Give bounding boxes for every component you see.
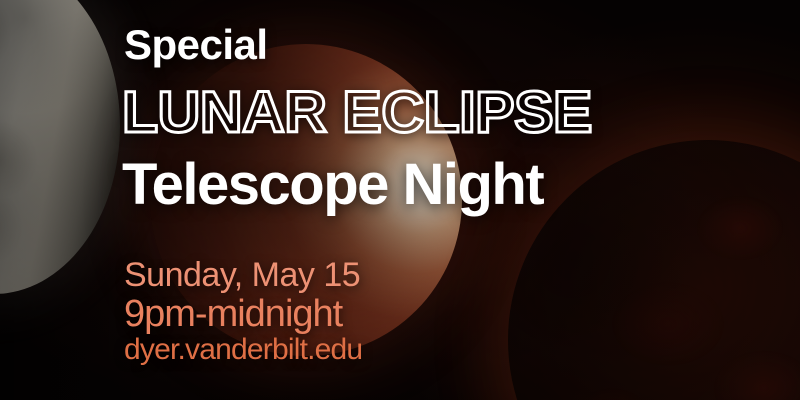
event-date: Sunday, May 15 <box>124 256 362 294</box>
poster-kicker: Special <box>124 24 268 66</box>
poster-copy-block: Special LUNAR ECLIPSE Telescope Night Su… <box>122 0 722 400</box>
event-url[interactable]: dyer.vanderbilt.edu <box>124 334 362 366</box>
lunar-eclipse-event-poster: Special LUNAR ECLIPSE Telescope Night Su… <box>0 0 800 400</box>
poster-title-outline: LUNAR ECLIPSE <box>122 84 592 142</box>
poster-details-block: Sunday, May 15 9pm-midnight dyer.vanderb… <box>124 256 362 366</box>
event-time: 9pm-midnight <box>124 294 362 334</box>
poster-title-main: Telescope Night <box>122 156 543 214</box>
